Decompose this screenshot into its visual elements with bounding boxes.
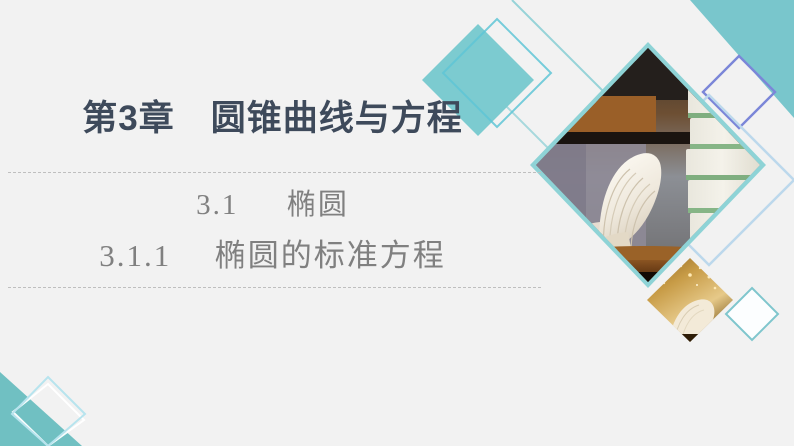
presentation-slide: 第3章 圆锥曲线与方程 3.1 椭圆 3.1.1 椭圆的标准方程 [0, 0, 794, 446]
divider-bottom [8, 287, 541, 288]
section-title-row: 3.1 椭圆 [0, 186, 545, 224]
subsection-name: 椭圆的标准方程 [215, 238, 446, 273]
chapter-title: 第3章 圆锥曲线与方程 [0, 96, 545, 142]
title-text-block: 第3章 圆锥曲线与方程 3.1 椭圆 3.1.1 椭圆的标准方程 [0, 0, 560, 446]
section-name: 椭圆 [287, 189, 349, 221]
section-number: 3.1 [196, 189, 238, 221]
subsection-number: 3.1.1 [99, 238, 171, 273]
divider-top [8, 172, 541, 173]
subsection-title-row: 3.1.1 椭圆的标准方程 [0, 235, 545, 277]
